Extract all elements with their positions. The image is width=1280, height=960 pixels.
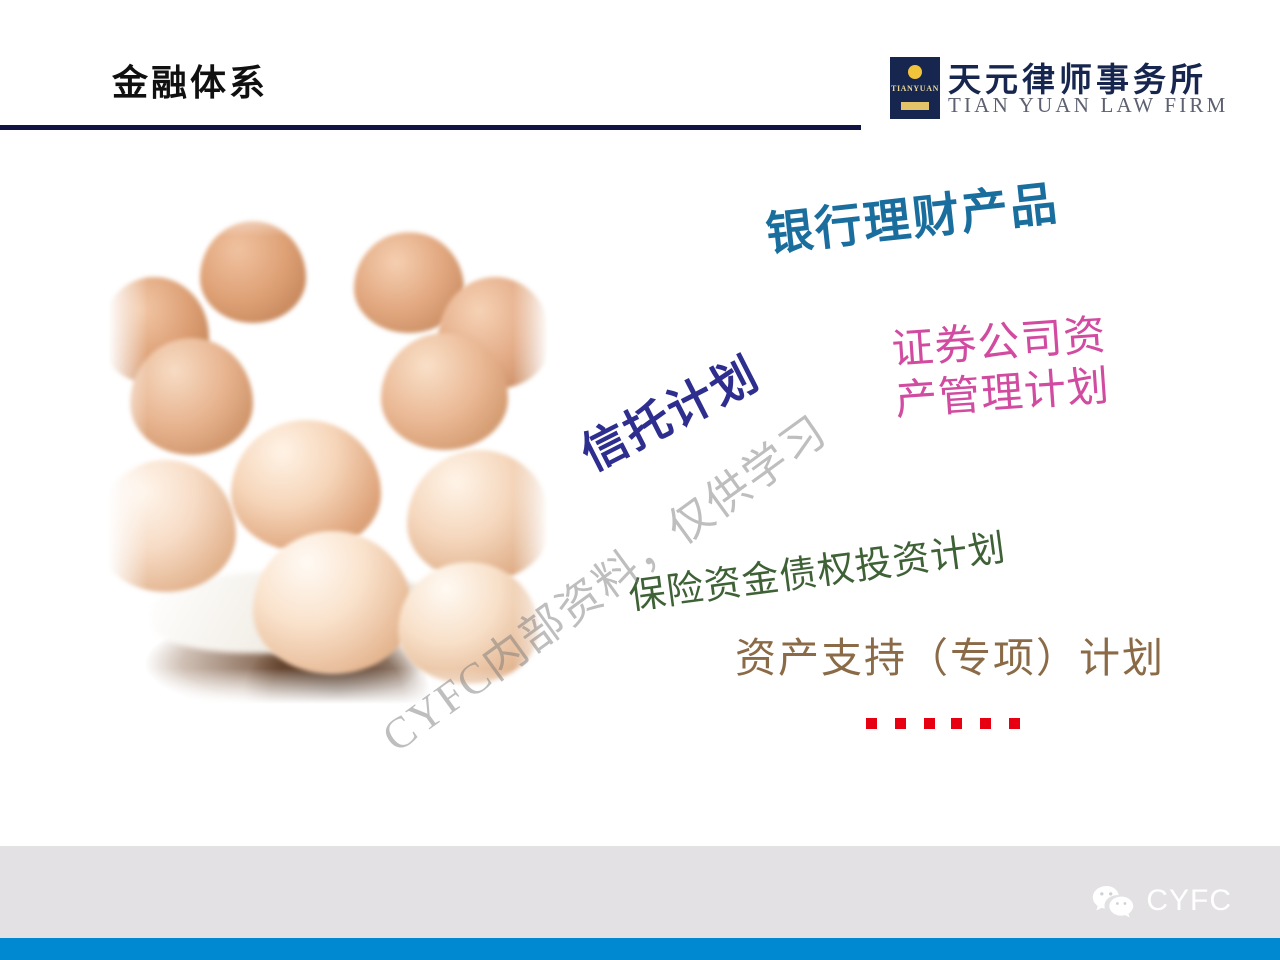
ellipsis-dot bbox=[951, 718, 962, 729]
product-label-asset-backed: 资产支持（专项）计划 bbox=[735, 624, 1165, 684]
tianyuan-logo-icon: TIANYUAN bbox=[890, 57, 940, 119]
footer-brand-label: CYFC bbox=[1146, 884, 1232, 918]
slide-canvas: 金融体系 TIANYUAN 天元律师事务所 TIAN YUAN LAW FIRM bbox=[0, 0, 1280, 960]
egg bbox=[231, 420, 381, 552]
firm-name-en: TIAN YUAN LAW FIRM bbox=[948, 93, 1229, 118]
logo-sun-icon bbox=[908, 65, 922, 79]
ellipsis-group-left bbox=[866, 718, 935, 729]
egg bbox=[200, 221, 306, 323]
logo-mark-label: TIANYUAN bbox=[890, 84, 940, 93]
egg bbox=[253, 531, 411, 673]
ellipsis-dot bbox=[866, 718, 877, 729]
ellipsis-marker bbox=[866, 718, 1020, 729]
egg bbox=[253, 308, 385, 425]
egg bbox=[130, 338, 253, 455]
egg bbox=[108, 460, 236, 592]
wechat-icon bbox=[1092, 884, 1134, 918]
ellipsis-dot bbox=[895, 718, 906, 729]
header-divider bbox=[0, 125, 861, 130]
product-label-trust: 信托计划 bbox=[568, 338, 769, 484]
product-label-securities: 证券公司资 产管理计划 bbox=[890, 311, 1112, 428]
product-label-bank: 银行理财产品 bbox=[762, 164, 1062, 264]
footer-accent-bar bbox=[0, 938, 1280, 960]
ellipsis-dot bbox=[980, 718, 991, 729]
page-title: 金融体系 bbox=[112, 54, 268, 106]
eggs-photo bbox=[108, 196, 548, 704]
logo-bar-icon bbox=[901, 102, 929, 110]
footer-band bbox=[0, 846, 1280, 938]
product-label-insurance: 保险资金债权投资计划 bbox=[625, 517, 1009, 620]
egg bbox=[398, 562, 539, 684]
footer-brand: CYFC bbox=[1092, 884, 1232, 918]
firm-logo: TIANYUAN 天元律师事务所 TIAN YUAN LAW FIRM bbox=[890, 57, 1230, 119]
ellipsis-group-right bbox=[951, 718, 1020, 729]
ellipsis-dot bbox=[924, 718, 935, 729]
eggs-photo-canvas bbox=[108, 196, 548, 704]
ellipsis-dot bbox=[1009, 718, 1020, 729]
